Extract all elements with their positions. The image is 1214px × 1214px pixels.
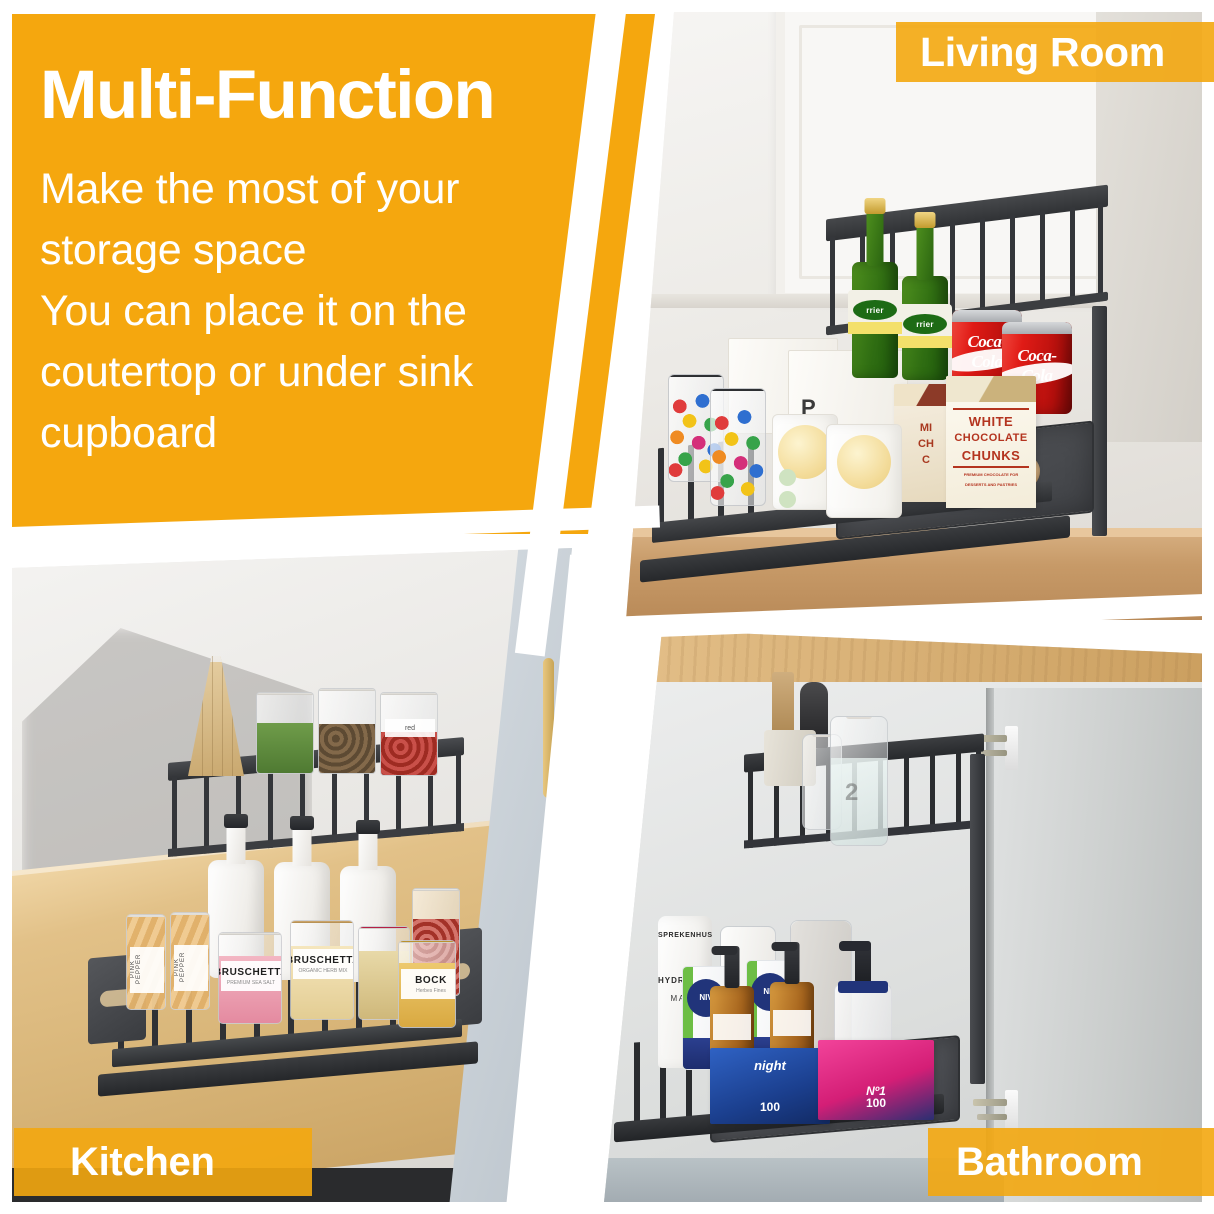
bottle-neck — [227, 824, 246, 864]
rack-post-right — [970, 754, 985, 1084]
bruschetta-sub: PREMIUM SEA SALT — [227, 980, 275, 986]
bock-label: BOCK Herbes Fines — [401, 969, 456, 999]
white-chocolate-pack: WHITE CHOCOLATE CHUNKS PREMIUM CHOCOLATE… — [946, 376, 1036, 508]
jar-lid — [218, 932, 282, 935]
tube-cap-icon — [170, 912, 210, 915]
tube-cap-icon — [126, 914, 166, 917]
cage-bar — [1010, 214, 1015, 313]
perrier-brand-text: rrier — [866, 306, 884, 315]
pack-rule — [953, 408, 1029, 410]
cage-bar — [904, 754, 909, 834]
product-infographic: Multi-Function Make the most of your sto… — [0, 0, 1214, 1214]
spice-jar-peppercorn — [318, 688, 376, 774]
bottle-cap-icon — [412, 888, 460, 891]
jar-lid — [710, 388, 766, 391]
hygiene-pack-pink: Nº1 100 — [818, 1040, 934, 1120]
bruschetta-jar-pink: BRUSCHETTA PREMIUM SEA SALT — [218, 932, 282, 1024]
tube-label: PINK PEPPER — [130, 947, 164, 993]
pump-dispenser-icon[interactable] — [785, 942, 800, 984]
tin-graphic — [837, 435, 891, 489]
bruschetta-label-1: BRUSCHETTA PREMIUM SEA SALT — [221, 961, 281, 991]
bottle-cap-icon — [290, 816, 314, 830]
bruschetta-name: BRUSCHETTA — [218, 967, 282, 978]
perrier-brand-text: rrier — [916, 320, 934, 329]
cage-bar — [830, 236, 835, 335]
jar-lid — [318, 688, 376, 691]
cage-rail — [168, 823, 464, 857]
white-choc-line-3: CHUNKS — [946, 448, 1036, 463]
jar-lid-gold — [398, 940, 456, 943]
subtitle-line-1: Make the most of your — [40, 159, 642, 220]
cage-bar — [172, 776, 177, 856]
white-choc-line-1: WHITE — [946, 414, 1036, 429]
bottle-neck — [359, 830, 378, 870]
bottle-cap-icon — [915, 212, 936, 228]
cage-bar — [956, 750, 961, 830]
white-choc-sub-1: PREMIUM CHOCOLATE FOR — [946, 472, 1036, 477]
cage-bar — [1040, 210, 1045, 309]
bruschetta-name: BRUSCHETTA — [290, 955, 354, 966]
pack-rule — [953, 466, 1029, 468]
bottle-neck — [867, 210, 884, 266]
living-room-photo: rrier rrier Coca-Cola — [626, 12, 1214, 620]
perrier-bottle-2: rrier — [902, 276, 948, 380]
tin-dot — [779, 469, 796, 486]
bock-sub: Herbes Fines — [416, 988, 446, 994]
amber-label — [713, 1014, 751, 1040]
bottle-neck — [293, 826, 312, 866]
jar-lid — [668, 374, 724, 377]
can-top — [952, 310, 1022, 322]
jar-contents — [257, 723, 313, 773]
bottle-cap-icon — [224, 814, 248, 828]
perrier-oval: rrier — [853, 300, 897, 320]
frame-edge-right — [1202, 0, 1214, 1214]
amber-label — [773, 1010, 811, 1036]
frame-edge-top — [0, 0, 1214, 12]
bruschetta-label-2: BRUSCHETTA ORGANIC HERB MIX — [293, 949, 353, 979]
page-title: Multi-Function — [40, 60, 642, 129]
cage-bar — [1098, 203, 1103, 302]
spice-jar-herbs — [256, 692, 314, 774]
jar-lid-wood — [290, 920, 354, 923]
jar-contents — [381, 732, 437, 775]
perrier-bottle-1: rrier — [852, 262, 898, 378]
badge-bathroom-label: Bathroom — [956, 1140, 1143, 1185]
can-top — [1002, 322, 1072, 334]
pack-top — [946, 376, 1036, 402]
perrier-yellow-band — [898, 336, 952, 348]
wooden-whisk — [188, 656, 244, 776]
badge-bathroom: Bathroom — [928, 1128, 1214, 1196]
badge-kitchen-label: Kitchen — [70, 1140, 215, 1185]
storage-rack-kitchen: red — [68, 644, 568, 1144]
badge-living-room: Living Room — [896, 22, 1214, 82]
pink-pepper-tube-2: PINK PEPPER — [170, 912, 210, 1010]
bruschetta-jar-cream: BRUSCHETTA ORGANIC HERB MIX — [290, 920, 354, 1020]
bottle-cap-icon — [812, 734, 832, 737]
pump-dispenser-icon[interactable] — [725, 946, 740, 988]
tube-label: PINK PEPPER — [174, 945, 208, 991]
bottle-neck — [917, 224, 934, 280]
rack-post-right — [1092, 306, 1107, 536]
wood-shelf-top — [604, 630, 1214, 682]
cage-bar — [634, 1042, 640, 1125]
bruschetta-sub: ORGANIC HERB MIX — [299, 968, 348, 974]
storage-rack-living-room: rrier rrier Coca-Cola — [640, 202, 1160, 620]
hygiene-pack-blue: night 100 — [710, 1048, 830, 1124]
badge-kitchen: Kitchen — [14, 1128, 312, 1196]
whisk-line — [212, 656, 213, 776]
clear-bottle-large: 2 — [830, 716, 888, 846]
bock-name: BOCK — [415, 975, 447, 986]
bottle-number: 2 — [845, 779, 858, 807]
sprekenhus-brand: SPREKENHUS — [658, 932, 712, 939]
cage-bar — [748, 768, 753, 848]
cage-bar — [456, 751, 461, 831]
subtitle-line-2: storage space — [40, 220, 642, 281]
dispenser-collar — [838, 981, 888, 993]
whisk-line — [222, 656, 223, 776]
snack-tin-2 — [826, 424, 902, 518]
pack-blue-brand: night — [710, 1058, 830, 1073]
bock-jar: BOCK Herbes Fines — [398, 940, 456, 1028]
subtitle-line-3: You can place it on the — [40, 281, 642, 342]
perrier-oval: rrier — [903, 314, 947, 334]
badge-living-room-label: Living Room — [920, 29, 1165, 76]
tin-dot — [779, 491, 796, 508]
cage-bar — [332, 762, 337, 842]
candy-contents — [711, 405, 765, 505]
bottle-cap-icon — [865, 198, 886, 214]
spice-jar-label: red — [385, 719, 435, 737]
cage-bar — [268, 768, 273, 848]
candy-jar-2 — [710, 388, 766, 506]
jar-lid — [380, 692, 438, 695]
bottle-cap-icon — [846, 716, 872, 719]
cage-bar — [930, 752, 935, 832]
cage-bar — [980, 218, 985, 317]
perrier-yellow-band — [848, 322, 902, 334]
pack-pink-count: 100 — [818, 1096, 934, 1110]
bottle-contents — [831, 758, 887, 845]
pink-pepper-tube-1: PINK PEPPER — [126, 914, 166, 1010]
cage-bar — [204, 773, 209, 853]
bottle-cap-icon — [356, 820, 380, 834]
white-choc-sub-2: DESSERTS AND PASTRIES — [946, 482, 1036, 487]
bathroom-photo: 2 SPREKENHUS — [604, 630, 1214, 1202]
jar-lid — [256, 692, 314, 695]
pack-blue-count: 100 — [710, 1100, 830, 1114]
spice-jar-berries: red — [380, 692, 438, 776]
cage-bar — [1070, 207, 1075, 306]
frame-edge-left — [0, 0, 12, 1214]
jar-lid — [358, 926, 410, 929]
white-choc-line-2: CHOCOLATE — [946, 432, 1036, 444]
whisk-line — [232, 656, 233, 776]
jar-contents — [319, 724, 375, 773]
frame-edge-bottom — [0, 1202, 1214, 1214]
whisk-line — [202, 656, 203, 776]
